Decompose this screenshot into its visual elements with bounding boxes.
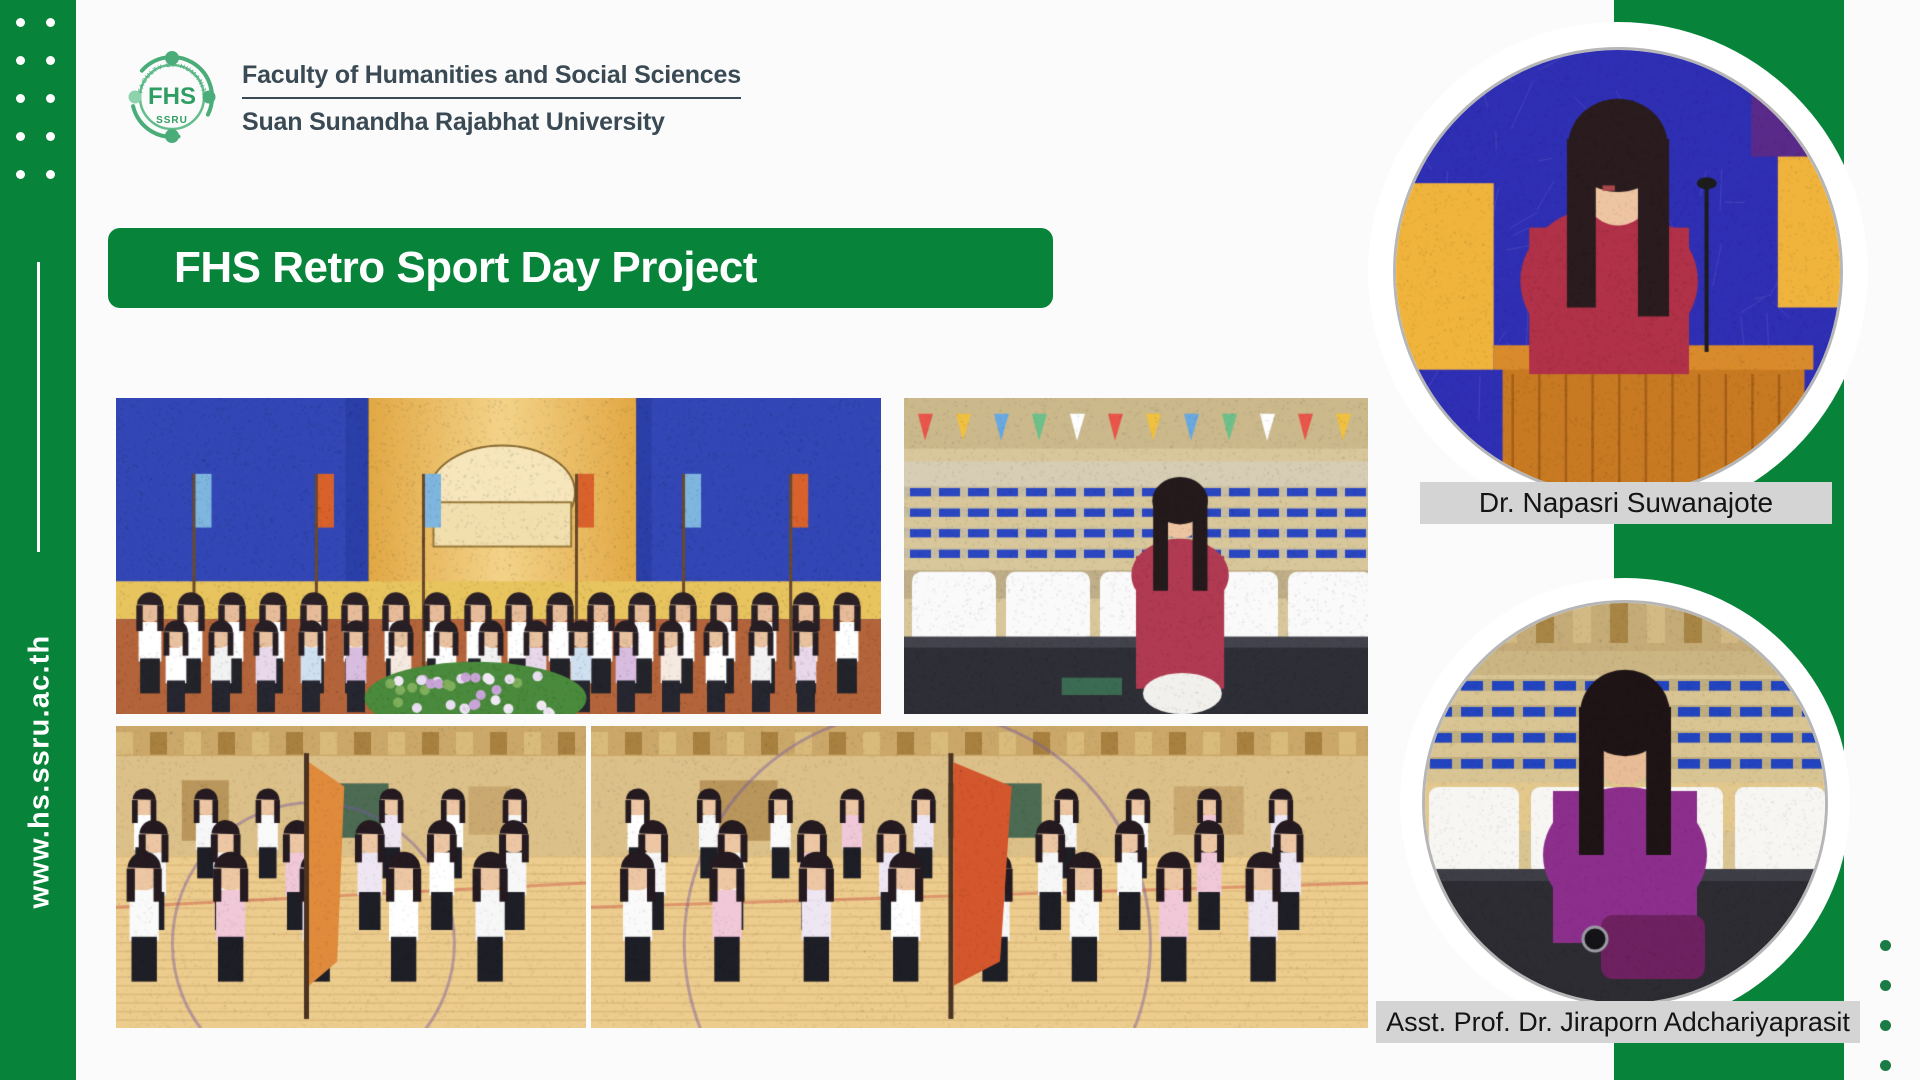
right-edge-dot xyxy=(1880,940,1891,951)
sidebar-dot xyxy=(46,18,55,27)
sidebar-dot xyxy=(16,94,25,103)
jiraporn-seated-portrait[interactable] xyxy=(1422,600,1828,1006)
left-sidebar-rail: www.hs.ssru.ac.th xyxy=(0,0,76,1080)
speaker-seated-photo[interactable] xyxy=(904,398,1368,714)
svg-text:SSRU: SSRU xyxy=(156,115,188,126)
title-banner: FHS Retro Sport Day Project xyxy=(108,228,1053,308)
sidebar-dot xyxy=(46,170,55,179)
sidebar-dot xyxy=(16,56,25,65)
svg-text:FHS: FHS xyxy=(148,83,196,110)
sidebar-dot xyxy=(16,18,25,27)
sidebar-dot xyxy=(46,56,55,65)
person-2-portrait-block xyxy=(1400,578,1850,1028)
page-title: FHS Retro Sport Day Project xyxy=(108,243,757,293)
right-edge-dot xyxy=(1880,1020,1891,1031)
students-lineup-right-photo[interactable] xyxy=(591,726,1368,1028)
sidebar-dot xyxy=(16,132,25,141)
right-edge-dot xyxy=(1880,980,1891,991)
university-name: Suan Sunandha Rajabhat University xyxy=(242,99,741,137)
person-1-portrait-block xyxy=(1368,22,1868,522)
sidebar-divider-line xyxy=(37,262,40,552)
sidebar-dot xyxy=(46,132,55,141)
faculty-name: Faculty of Humanities and Social Science… xyxy=(242,61,741,97)
right-edge-dot xyxy=(1880,1060,1891,1071)
sidebar-dot xyxy=(46,94,55,103)
fhs-logo-icon: FACULTY OF HUMANITIES AND SOCIAL SCIENCE… xyxy=(120,45,224,149)
website-url-vertical[interactable]: www.hs.ssru.ac.th xyxy=(24,602,57,942)
students-lineup-left-photo[interactable] xyxy=(116,726,586,1028)
brand-header: FACULTY OF HUMANITIES AND SOCIAL SCIENCE… xyxy=(120,45,741,149)
sidebar-dot-pattern xyxy=(0,0,76,210)
person-1-name-label: Dr. Napasri Suwanajote xyxy=(1420,482,1832,524)
person-2-name-label: Asst. Prof. Dr. Jiraporn Adchariyaprasit xyxy=(1376,1001,1860,1043)
napasri-podium-portrait[interactable] xyxy=(1393,47,1843,497)
group-ceremony-photo[interactable] xyxy=(116,398,881,714)
sidebar-dot xyxy=(16,170,25,179)
